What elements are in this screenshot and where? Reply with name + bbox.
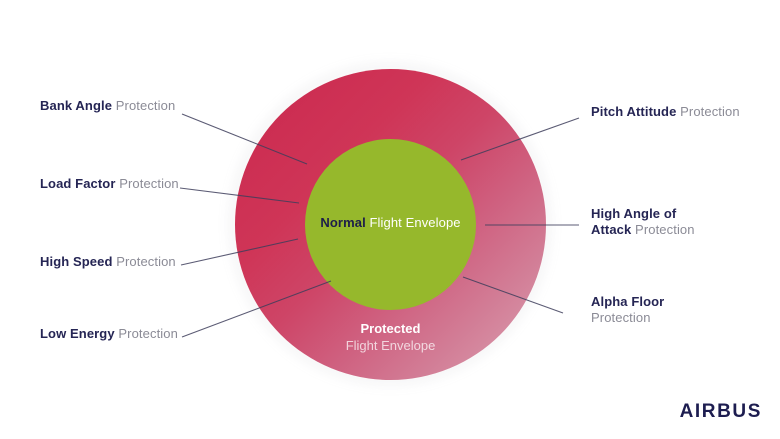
normal-flight-envelope-label: Normal Flight Envelope — [305, 214, 476, 231]
leader-line-load-factor — [180, 188, 299, 203]
protected-flight-envelope-label: Protected Flight Envelope — [300, 320, 481, 354]
callout-line-1: High Angle of — [591, 206, 695, 222]
airbus-logo: AIRBUS — [680, 401, 762, 423]
callout-term: Pitch Attitude — [591, 104, 676, 119]
callout-term: High Angle of — [591, 206, 676, 221]
callout-high-speed: High Speed Protection — [40, 254, 176, 270]
callout-load-factor: Load Factor Protection — [40, 176, 179, 192]
callout-suffix: Protection — [631, 222, 694, 237]
protected-suffix: Flight Envelope — [300, 337, 481, 354]
callout-high-angle-of-attack: High Angle of Attack Protection — [591, 206, 695, 238]
callout-line-2: Attack Protection — [591, 222, 695, 238]
callout-suffix: Protection — [591, 310, 651, 325]
callout-bank-angle: Bank Angle Protection — [40, 98, 175, 114]
leader-line-high-speed — [181, 239, 298, 265]
callout-suffix: Protection — [116, 176, 179, 191]
leader-line-bank-angle — [182, 114, 307, 164]
callout-term: Low Energy — [40, 326, 115, 341]
callout-pitch-attitude: Pitch Attitude Protection — [591, 104, 740, 120]
normal-suffix: Flight Envelope — [366, 215, 461, 230]
leader-line-alpha-floor — [463, 277, 563, 313]
callout-term: Bank Angle — [40, 98, 112, 113]
callout-term: Load Factor — [40, 176, 116, 191]
diagram-canvas: Bank Angle Protection Load Factor Protec… — [0, 0, 780, 439]
callout-suffix: Protection — [113, 254, 176, 269]
normal-term: Normal — [320, 215, 365, 230]
callout-suffix: Protection — [676, 104, 739, 119]
callout-suffix: Protection — [112, 98, 175, 113]
callout-term: Alpha Floor — [591, 294, 664, 309]
callout-term: High Speed — [40, 254, 113, 269]
callout-low-energy: Low Energy Protection — [40, 326, 178, 342]
callout-line-2: Protection — [591, 310, 664, 326]
callout-suffix: Protection — [115, 326, 178, 341]
callout-term-2: Attack — [591, 222, 631, 237]
protected-term: Protected — [300, 320, 481, 337]
callout-alpha-floor: Alpha Floor Protection — [591, 294, 664, 326]
leader-line-pitch-attitude — [461, 118, 579, 160]
callout-line-1: Alpha Floor — [591, 294, 664, 310]
